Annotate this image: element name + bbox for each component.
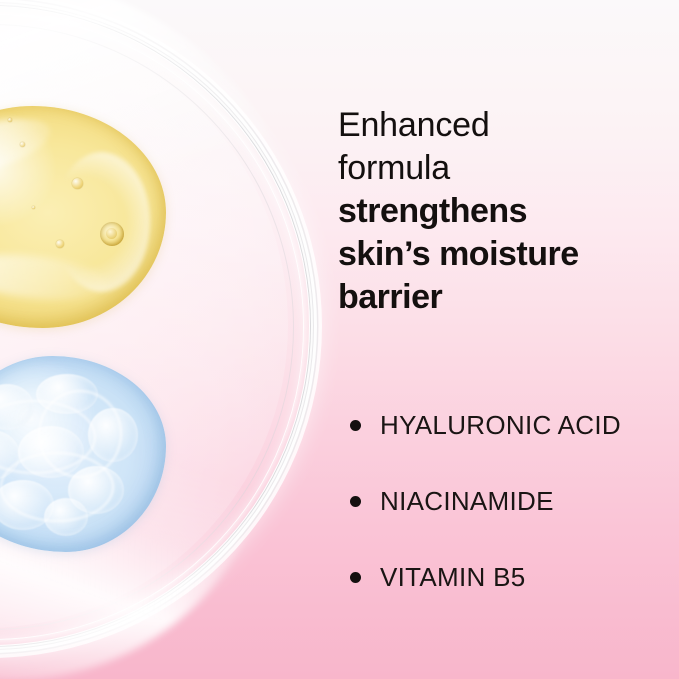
bullet-icon xyxy=(350,572,361,583)
gel-bubble xyxy=(36,374,98,414)
list-item: NIACINAMIDE xyxy=(350,476,670,526)
headline-line-4: skin’s moisture xyxy=(338,233,658,276)
oil-highlight-top xyxy=(0,108,56,183)
petri-dish-interior xyxy=(0,22,288,628)
oil-bubble-small xyxy=(72,178,83,189)
petri-dish-top-gloss xyxy=(0,0,320,304)
gel-bubble xyxy=(44,498,88,536)
headline-line-5: barrier xyxy=(338,276,658,319)
oil-edge-highlight xyxy=(54,152,150,292)
oil-bubble-large xyxy=(100,222,124,246)
gel-bubble xyxy=(0,430,20,480)
ingredient-label: HYALURONIC ACID xyxy=(380,410,621,441)
headline: Enhanced formula strengthens skin’s mois… xyxy=(338,104,658,319)
petri-dish-bottom-gloss xyxy=(0,430,270,679)
ingredient-list: HYALURONIC ACID NIACINAMIDE VITAMIN B5 xyxy=(350,400,670,628)
product-benefit-banner: Enhanced formula strengthens skin’s mois… xyxy=(0,0,679,679)
ingredient-label: NIACINAMIDE xyxy=(380,486,554,517)
petri-dish-rim-inner-line xyxy=(0,24,294,630)
yellow-oil-droplet xyxy=(0,106,166,328)
bullet-icon xyxy=(350,496,361,507)
petri-dish-image xyxy=(0,0,340,679)
petri-dish-rim-highlight xyxy=(0,14,304,640)
gel-bubble xyxy=(18,426,84,478)
list-item: HYALURONIC ACID xyxy=(350,400,670,450)
gel-bubble xyxy=(68,466,124,514)
gel-bubble xyxy=(88,408,138,462)
headline-line-3: strengthens xyxy=(338,190,658,233)
oil-bubble-small xyxy=(20,142,25,147)
gel-bubble xyxy=(0,480,54,530)
headline-line-2: formula xyxy=(338,147,658,190)
oil-bubble-small xyxy=(8,118,12,122)
headline-line-1: Enhanced xyxy=(338,104,658,147)
oil-bubble-small xyxy=(56,240,64,248)
gel-bubble xyxy=(0,384,34,430)
blue-gel-droplet xyxy=(0,356,166,552)
bullet-icon xyxy=(350,420,361,431)
gel-swirl xyxy=(0,400,96,474)
ingredient-label: VITAMIN B5 xyxy=(380,562,526,593)
gel-swirl xyxy=(0,452,114,522)
list-item: VITAMIN B5 xyxy=(350,552,670,602)
oil-bubble-small xyxy=(32,206,35,209)
oil-highlight-bottom xyxy=(0,248,110,305)
petri-dish-rim xyxy=(0,6,310,646)
gel-swirl xyxy=(38,390,122,478)
